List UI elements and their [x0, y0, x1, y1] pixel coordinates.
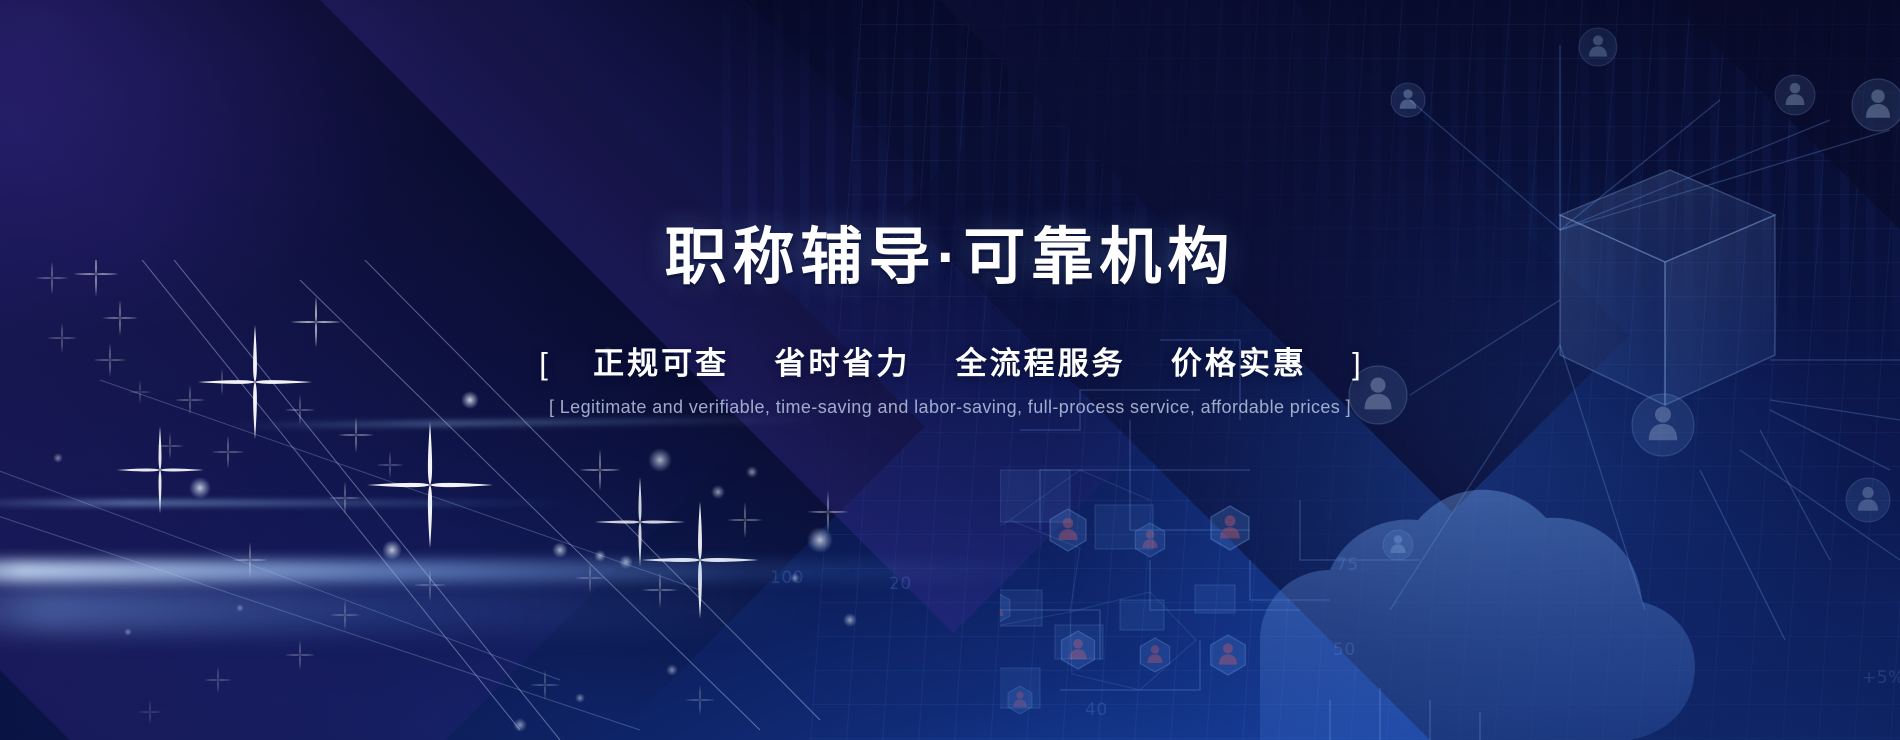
subtitle-item-3: 全流程服务 — [956, 346, 1126, 381]
banner-title: 职称辅导·可靠机构 — [665, 224, 1236, 292]
subtitle-item-1: 正规可查 — [593, 346, 729, 381]
subtitle-bracket-close: ] — [1352, 346, 1361, 381]
banner-content: 职称辅导·可靠机构 [ 正规可查 省时省力 全流程服务 价格实惠 ] [ Leg… — [0, 0, 1900, 740]
subtitle-item-2: 省时省力 — [774, 346, 910, 381]
subtitle-bracket-open: [ — [539, 346, 548, 381]
banner-subtitle-english: [ Legitimate and verifiable, time-saving… — [549, 397, 1351, 418]
banner-subtitle: [ 正规可查 省时省力 全流程服务 价格实惠 ] — [539, 338, 1361, 383]
banner-hero: 100 100 20 75 50 40 +5% — [0, 0, 1900, 740]
subtitle-item-4: 价格实惠 — [1171, 346, 1307, 381]
